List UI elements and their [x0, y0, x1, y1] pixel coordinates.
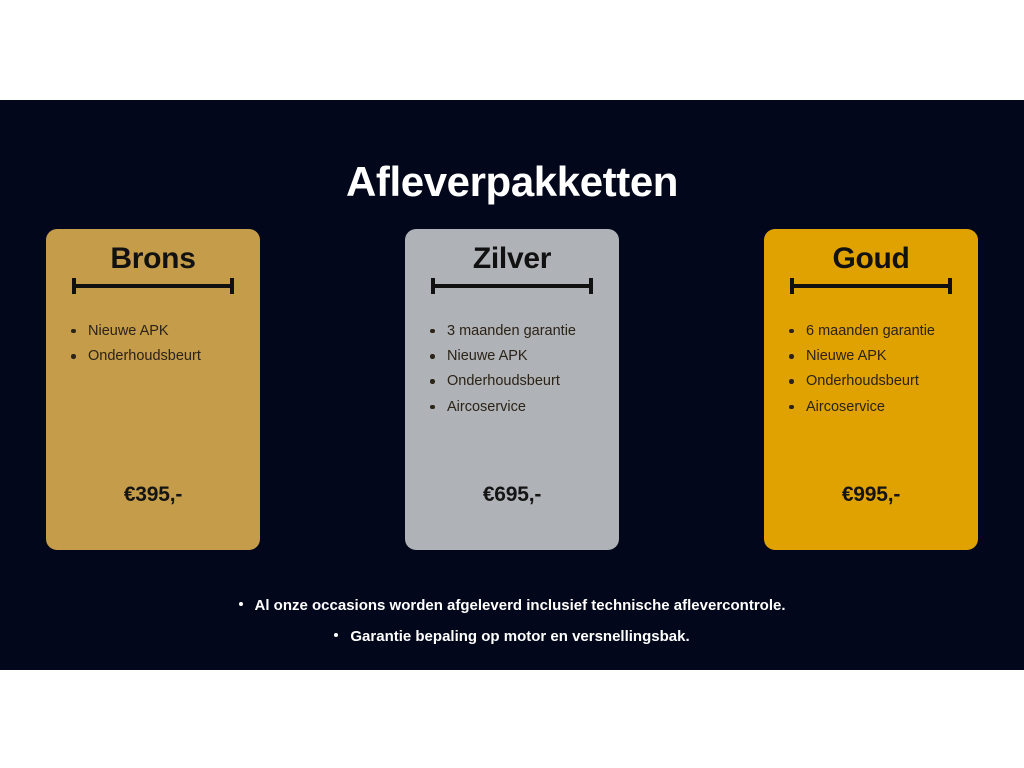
card-header-goud: Goud	[778, 242, 964, 294]
footer-note-2: Garantie bepaling op motor en versnellin…	[0, 621, 1024, 652]
list-item: Nieuwe APK	[788, 344, 978, 369]
package-price-goud: €995,-	[764, 483, 978, 507]
footer-notes: Al onze occasions worden afgeleverd incl…	[0, 590, 1024, 652]
dimension-line-icon	[786, 278, 956, 294]
list-item: Aircoservice	[788, 395, 978, 420]
dimension-line-bar	[790, 284, 952, 288]
dimension-line-cap-right	[589, 278, 593, 294]
list-item: Nieuwe APK	[70, 319, 260, 344]
footer-note-2-text: Garantie bepaling op motor en versnellin…	[350, 628, 689, 645]
list-item: Nieuwe APK	[429, 344, 619, 369]
feature-list-brons: Nieuwe APK Onderhoudsbeurt	[46, 319, 260, 370]
bullet-icon	[334, 633, 338, 637]
list-item: 6 maanden garantie	[788, 319, 978, 344]
package-title-brons: Brons	[60, 242, 246, 276]
page-title: Afleverpakketten	[0, 159, 1024, 205]
package-title-goud: Goud	[778, 242, 964, 276]
dimension-line-icon	[427, 278, 597, 294]
dimension-line-cap-right	[948, 278, 952, 294]
package-card-zilver[interactable]: Zilver 3 maanden garantie Nieuwe APK Ond…	[405, 229, 619, 550]
list-item: Onderhoudsbeurt	[70, 344, 260, 369]
list-item: 3 maanden garantie	[429, 319, 619, 344]
bullet-icon	[239, 602, 243, 606]
card-header-brons: Brons	[60, 242, 246, 294]
slide-stage: Afleverpakketten Brons Nieuwe APK Onderh…	[0, 0, 1024, 768]
dimension-line-bar	[431, 284, 593, 288]
package-card-goud[interactable]: Goud 6 maanden garantie Nieuwe APK Onder…	[764, 229, 978, 550]
content-panel: Afleverpakketten Brons Nieuwe APK Onderh…	[0, 100, 1024, 670]
package-card-brons[interactable]: Brons Nieuwe APK Onderhoudsbeurt €395,-	[46, 229, 260, 550]
package-title-zilver: Zilver	[419, 242, 605, 276]
package-card-row: Brons Nieuwe APK Onderhoudsbeurt €395,- …	[46, 229, 978, 550]
package-price-brons: €395,-	[46, 483, 260, 507]
list-item: Onderhoudsbeurt	[788, 369, 978, 394]
package-price-zilver: €695,-	[405, 483, 619, 507]
dimension-line-bar	[72, 284, 234, 288]
footer-note-1: Al onze occasions worden afgeleverd incl…	[0, 590, 1024, 621]
list-item: Aircoservice	[429, 395, 619, 420]
feature-list-goud: 6 maanden garantie Nieuwe APK Onderhouds…	[764, 319, 978, 421]
feature-list-zilver: 3 maanden garantie Nieuwe APK Onderhouds…	[405, 319, 619, 421]
footer-note-1-text: Al onze occasions worden afgeleverd incl…	[255, 597, 786, 614]
dimension-line-cap-right	[230, 278, 234, 294]
card-header-zilver: Zilver	[419, 242, 605, 294]
dimension-line-icon	[68, 278, 238, 294]
list-item: Onderhoudsbeurt	[429, 369, 619, 394]
